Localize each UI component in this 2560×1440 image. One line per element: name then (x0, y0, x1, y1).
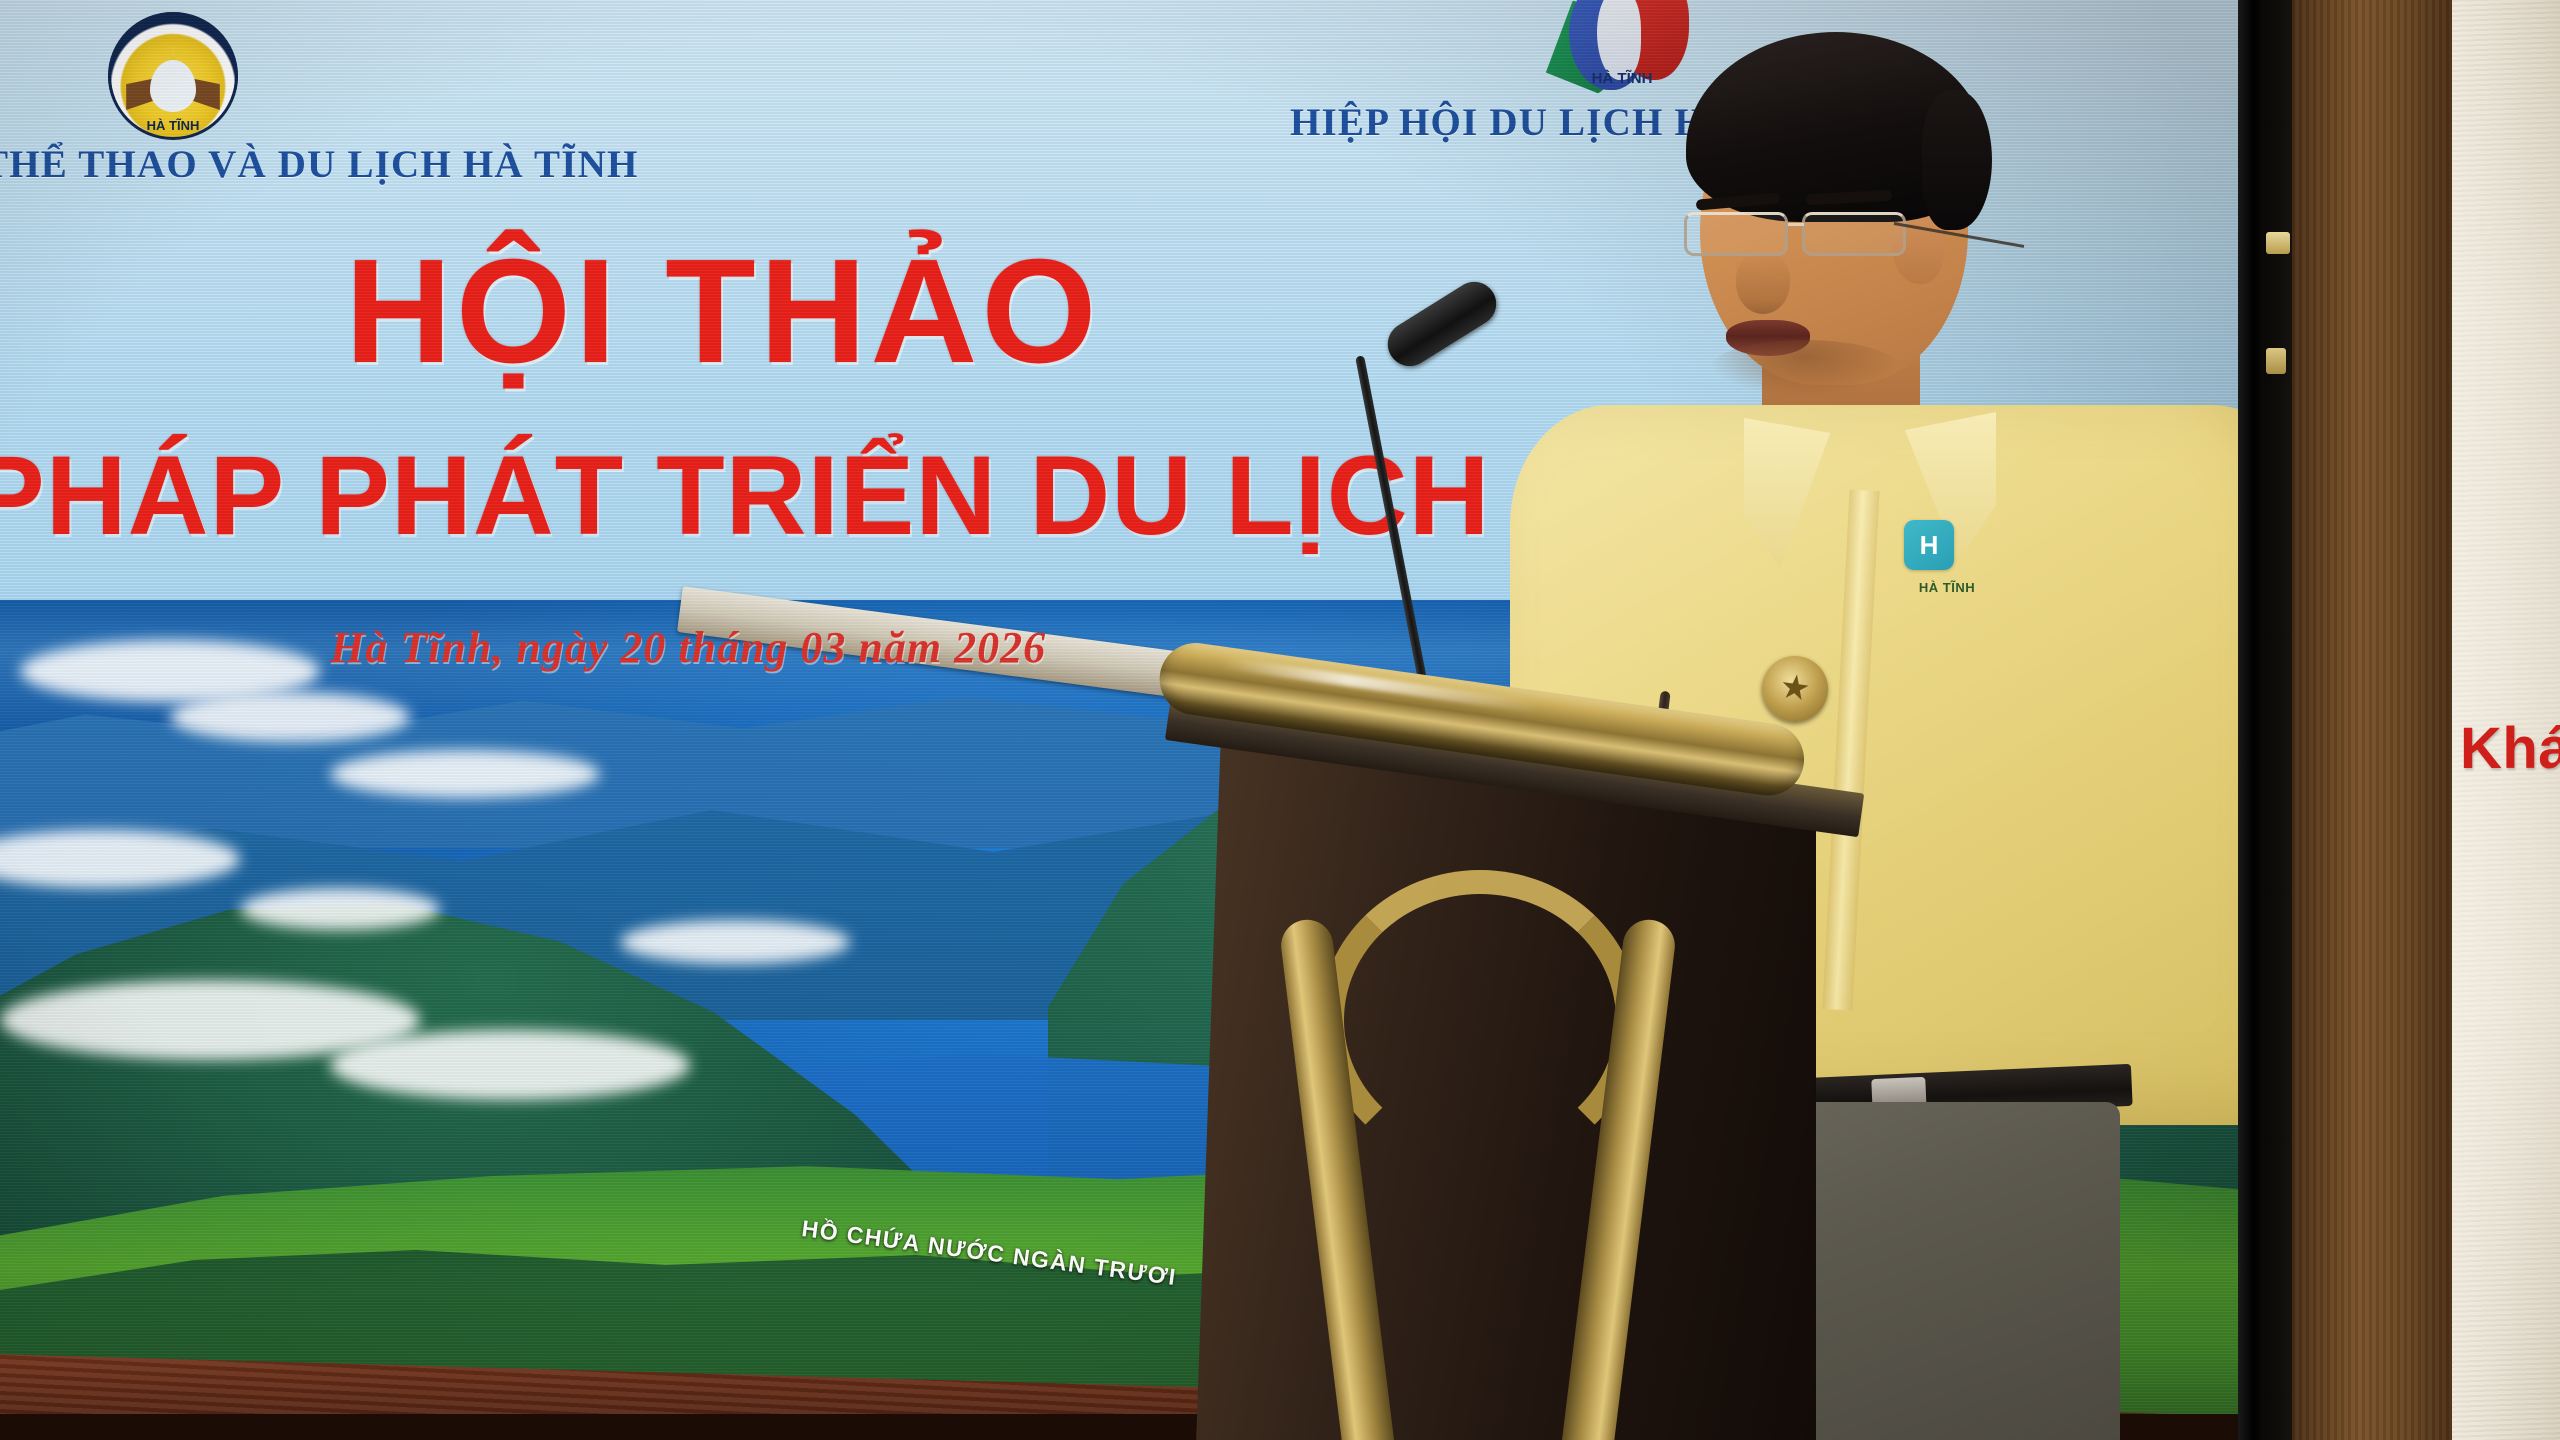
cloud (330, 1030, 690, 1100)
cloud (170, 692, 410, 742)
chin-shadow (1710, 340, 1900, 396)
door-latch-lower (2266, 348, 2286, 374)
cloud (620, 920, 850, 964)
department-logo-caption: HÀ TĨNH (108, 118, 238, 133)
event-date: Hà Tĩnh, ngày 20 tháng 03 năm 2026 (330, 622, 1046, 673)
shirt-logo-badge: H (1904, 520, 1954, 570)
lens-right (1802, 212, 1906, 256)
logo-center-orb (150, 60, 196, 112)
wooden-pillar (2292, 0, 2452, 1440)
screen-frame-edge (2238, 0, 2264, 1440)
department-logo: HÀ TĨNH (108, 12, 238, 140)
nose (1736, 252, 1790, 314)
door-gap (2264, 0, 2292, 1440)
podium-emblem: ★ (1758, 652, 1833, 727)
shirt-logo-caption: HÀ TĨNH (1872, 580, 2022, 595)
podium-gold-arc (1320, 870, 1640, 1170)
poster-text: Khán (2460, 715, 2560, 782)
cloud (330, 750, 600, 798)
glasses-bridge (1788, 223, 1804, 226)
podium: ★ (1150, 620, 1970, 1440)
eyeglasses (1684, 212, 1934, 258)
cloud (240, 888, 440, 930)
event-title: HỘI THẢO (345, 238, 1101, 386)
door-latch-upper (2266, 232, 2290, 254)
department-heading: THỂ THAO VÀ DU LỊCH HÀ TĨNH (0, 142, 622, 187)
screenshot-stage: HỒ CHỨA NƯỚC NGÀN TRƯƠI HÀ TĨNH THỂ THAO… (0, 0, 2560, 1440)
star-icon: ★ (1778, 670, 1813, 708)
lens-left (1684, 212, 1788, 256)
